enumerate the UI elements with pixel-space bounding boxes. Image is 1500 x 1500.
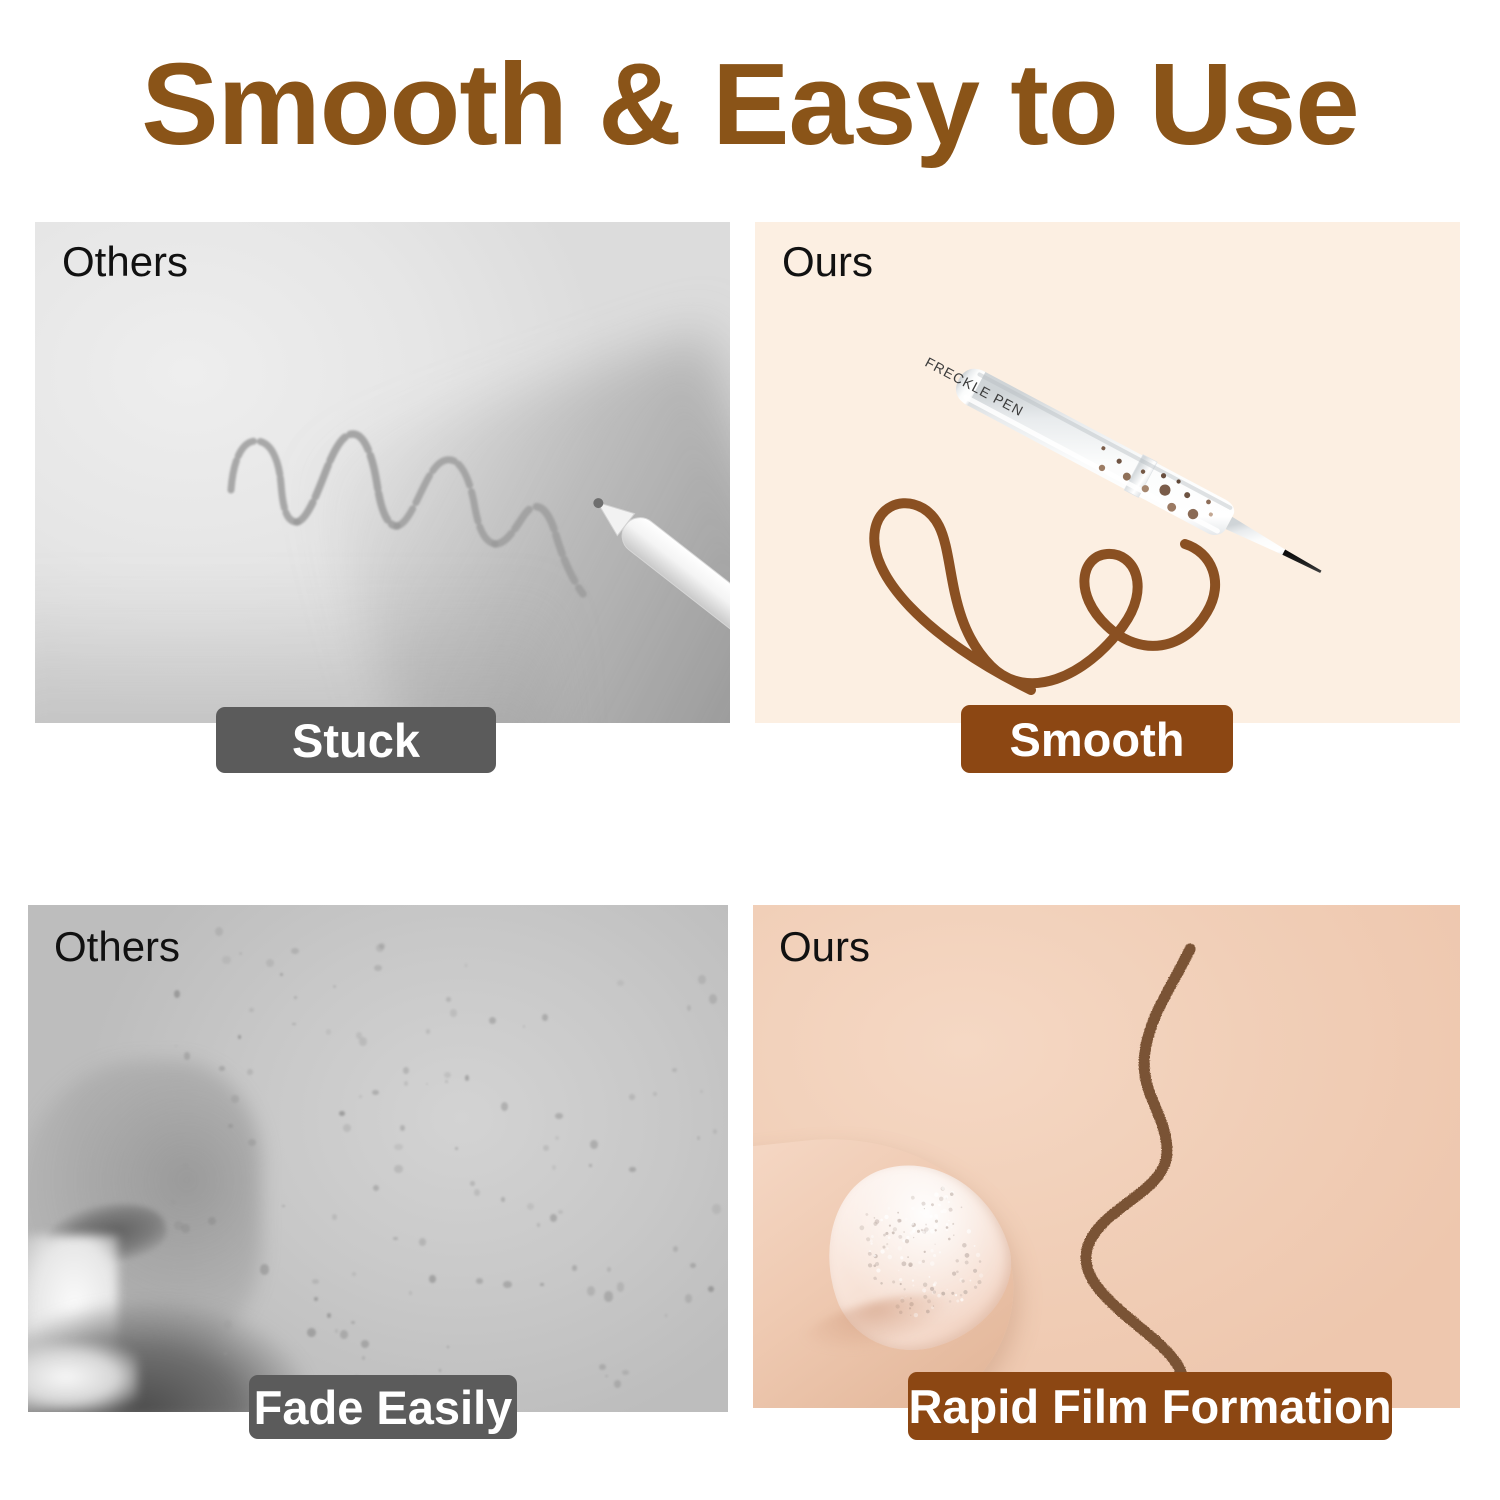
- badge-stuck: Stuck: [216, 707, 496, 773]
- corner-label-others-top: Others: [62, 238, 188, 286]
- ours-bottom-drawn-line: [753, 905, 1460, 1408]
- panel-ours-rapid-film: Ours: [753, 905, 1460, 1408]
- smooth-squiggle: [874, 503, 1215, 690]
- badge-rapid-film-formation: Rapid Film Formation: [908, 1372, 1392, 1440]
- brown-wave-stroke: [1086, 949, 1190, 1408]
- page-title: Smooth & Easy to Use: [0, 44, 1500, 164]
- badge-fade-easily: Fade Easily: [249, 1375, 517, 1439]
- corner-label-ours-top: Ours: [782, 238, 873, 286]
- ours-top-illustration: FRECKLE PEN: [755, 222, 1460, 723]
- white-pen-others: [583, 486, 730, 668]
- badge-smooth: Smooth: [961, 705, 1233, 773]
- others-bottom-lip-highlight: [28, 1342, 138, 1412]
- corner-label-ours-bottom: Ours: [779, 923, 870, 971]
- panel-ours-smooth: FRECKLE PEN Ours: [755, 222, 1460, 723]
- others-top-illustration: [35, 222, 730, 723]
- panel-others-stuck: Others: [35, 222, 730, 723]
- corner-label-others-bottom: Others: [54, 923, 180, 971]
- panel-others-fade: Others: [28, 905, 728, 1412]
- stuck-scribble: [231, 434, 583, 594]
